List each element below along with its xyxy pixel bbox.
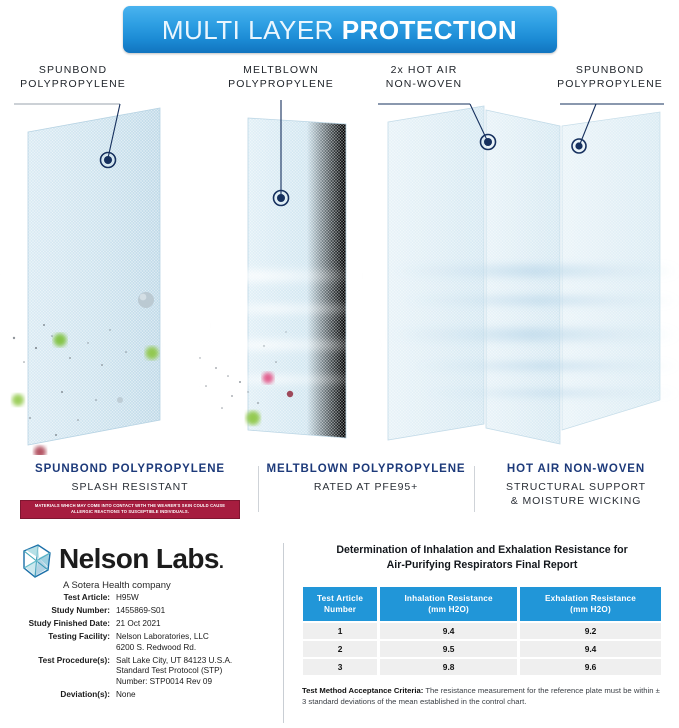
callout-line2: POLYPROPYLENE (548, 77, 672, 91)
cell-inhalation: 9.8 (380, 659, 517, 675)
layer-descriptions: SPUNBOND POLYPROPYLENE SPLASH RESISTANT … (0, 462, 679, 527)
description-heading: MELTBLOWN POLYPROPYLENE (258, 462, 474, 477)
description-meltblown: MELTBLOWN POLYPROPYLENE RATED AT PFE95+ (258, 462, 474, 494)
title-banner: MULTI LAYER PROTECTION (123, 6, 557, 53)
detail-label: Study Finished Date: (6, 619, 116, 630)
callout-line1: SPUNBOND (548, 63, 672, 77)
detail-label: Test Article: (6, 593, 116, 604)
detail-value: Salt Lake City, UT 84123 U.S.A. Standard… (116, 656, 281, 688)
cell-exhalation: 9.4 (520, 641, 661, 657)
description-hot-air: HOT AIR NON-WOVEN STRUCTURAL SUPPORT & M… (476, 462, 676, 508)
callout-label-hot-air: 2x HOT AIR NON-WOVEN (366, 63, 482, 91)
table-row: 1 9.4 9.2 (303, 623, 661, 639)
description-subtext: STRUCTURAL SUPPORT (476, 480, 676, 494)
acceptance-criteria-label: Test Method Acceptance Criteria: (302, 686, 423, 695)
description-subtext: RATED AT PFE95+ (258, 480, 474, 494)
nelson-labs-logo-block: Nelson Labs. A Sotera Health company (18, 540, 268, 591)
detail-label: Deviation(s): (6, 690, 116, 701)
logo-tagline: A Sotera Health company (63, 580, 268, 591)
cell-inhalation: 9.4 (380, 623, 517, 639)
detail-label: Testing Facility: (6, 632, 116, 653)
test-report-section: Nelson Labs. A Sotera Health company Tes… (0, 533, 679, 728)
detail-label: Study Number: (6, 606, 116, 617)
cell-exhalation: 9.2 (520, 623, 661, 639)
report-title-line1: Determination of Inhalation and Exhalati… (292, 543, 672, 558)
callout-line2: NON-WOVEN (366, 77, 482, 91)
detail-value: H95W (116, 593, 281, 604)
table-header-row: Test Article Number Inhalation Resistanc… (303, 587, 661, 621)
divider-vertical-2 (474, 466, 475, 512)
cell-article-number: 1 (303, 623, 377, 639)
table-row: 3 9.8 9.6 (303, 659, 661, 675)
detail-row-test-procedures: Test Procedure(s): Salt Lake City, UT 84… (6, 656, 281, 688)
report-title: Determination of Inhalation and Exhalati… (292, 543, 672, 572)
logo-wordmark-dot: . (219, 552, 223, 572)
allergen-warning-banner: MATERIALS WHICH MAY COME INTO CONTACT WI… (20, 500, 240, 519)
callout-line1: SPUNBOND (8, 63, 138, 77)
cell-inhalation: 9.5 (380, 641, 517, 657)
description-heading: SPUNBOND POLYPROPYLENE (2, 462, 258, 477)
callout-label-meltblown: MELTBLOWN POLYPROPYLENE (216, 63, 346, 91)
table-header-exhalation: Exhalation Resistance (mm H2O) (520, 587, 661, 621)
callout-label-spunbond-back: SPUNBOND POLYPROPYLENE (548, 63, 672, 91)
detail-value: 21 Oct 2021 (116, 619, 281, 630)
resistance-results-table: Test Article Number Inhalation Resistanc… (300, 585, 664, 677)
resistance-report: Determination of Inhalation and Exhalati… (292, 543, 672, 707)
cell-article-number: 2 (303, 641, 377, 657)
detail-row-testing-facility: Testing Facility: Nelson Laboratories, L… (6, 632, 281, 653)
detail-value: None (116, 690, 281, 701)
shield-icon (18, 540, 56, 580)
detail-value: Nelson Laboratories, LLC 6200 S. Redwood… (116, 632, 281, 653)
cell-article-number: 3 (303, 659, 377, 675)
test-details-list: Test Article: H95W Study Number: 1455869… (6, 593, 281, 703)
detail-row-test-article: Test Article: H95W (6, 593, 281, 604)
title-banner-container: MULTI LAYER PROTECTION (0, 6, 679, 53)
acceptance-criteria-note: Test Method Acceptance Criteria: The res… (302, 686, 662, 707)
detail-row-study-number: Study Number: 1455869-S01 (6, 606, 281, 617)
description-subtext-2: & MOISTURE WICKING (476, 494, 676, 508)
description-heading: HOT AIR NON-WOVEN (476, 462, 676, 477)
banner-text: MULTI LAYER PROTECTION (162, 17, 517, 43)
table-header-inhalation: Inhalation Resistance (mm H2O) (380, 587, 517, 621)
detail-row-study-finished-date: Study Finished Date: 21 Oct 2021 (6, 619, 281, 630)
cell-exhalation: 9.6 (520, 659, 661, 675)
callout-line1: 2x HOT AIR (366, 63, 482, 77)
divider-vertical-1 (258, 466, 259, 512)
callout-labels: SPUNBOND POLYPROPYLENE MELTBLOWN POLYPRO… (0, 63, 679, 103)
callout-label-spunbond-front: SPUNBOND POLYPROPYLENE (8, 63, 138, 91)
banner-text-bold: PROTECTION (342, 15, 517, 45)
table-header-test-article: Test Article Number (303, 587, 377, 621)
layer-panel-spunbond-front (28, 108, 160, 445)
detail-label: Test Procedure(s): (6, 656, 116, 688)
logo-wordmark: Nelson Labs. (59, 544, 223, 577)
callout-line2: POLYPROPYLENE (8, 77, 138, 91)
callout-line2: POLYPROPYLENE (216, 77, 346, 91)
mask-layers-diagram (0, 100, 679, 455)
description-subtext: SPLASH RESISTANT (2, 480, 258, 494)
description-spunbond: SPUNBOND POLYPROPYLENE SPLASH RESISTANT … (2, 462, 258, 519)
detail-value: 1455869-S01 (116, 606, 281, 617)
banner-text-light: MULTI LAYER (162, 15, 334, 45)
report-title-line2: Air-Purifying Respirators Final Report (292, 558, 672, 573)
callout-line1: MELTBLOWN (216, 63, 346, 77)
detail-row-deviations: Deviation(s): None (6, 690, 281, 701)
table-row: 2 9.5 9.4 (303, 641, 661, 657)
